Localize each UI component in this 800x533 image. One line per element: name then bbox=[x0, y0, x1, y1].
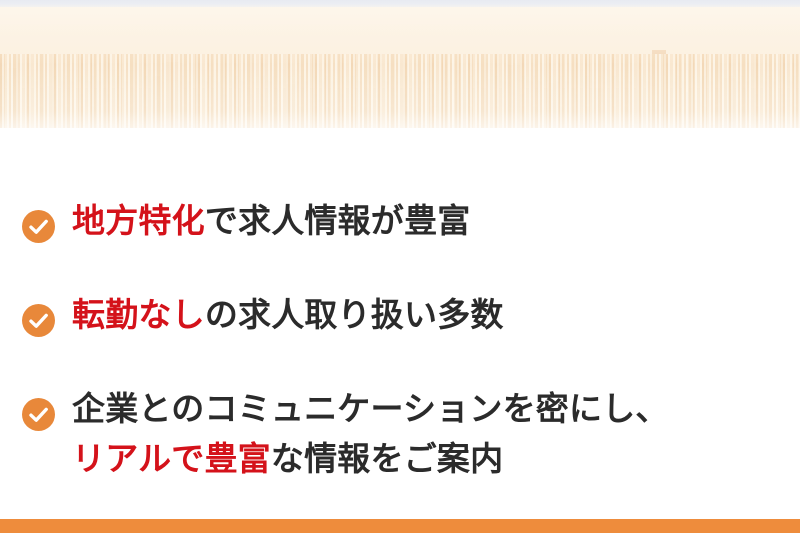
benefit-item: 転勤なしの求人取り扱い多数 bbox=[22, 290, 800, 340]
check-circle-icon bbox=[22, 304, 55, 337]
benefit-text: 転勤なしの求人取り扱い多数 bbox=[72, 290, 504, 340]
top-strip bbox=[0, 0, 800, 7]
benefit-text: 地方特化で求人情報が豊富 bbox=[72, 196, 470, 246]
check-circle-icon bbox=[22, 210, 55, 243]
benefit-plain-text: 企業とのコミュニケーションを密にし、 bbox=[72, 390, 669, 427]
benefit-text-line: 企業とのコミュニケーションを密にし、 bbox=[72, 384, 669, 434]
benefit-item: 企業とのコミュニケーションを密にし、リアルで豊富な情報をご案内 bbox=[22, 384, 800, 484]
benefit-text-line: 地方特化で求人情報が豊富 bbox=[72, 196, 470, 246]
benefit-plain-text: の求人取り扱い多数 bbox=[205, 296, 504, 333]
benefit-highlight-text: リアルで豊富 bbox=[72, 440, 271, 477]
benefit-highlight-text: 地方特化 bbox=[72, 202, 205, 239]
benefit-text-line: 転勤なしの求人取り扱い多数 bbox=[72, 290, 504, 340]
check-circle-icon bbox=[22, 398, 55, 431]
benefit-text: 企業とのコミュニケーションを密にし、リアルで豊富な情報をご案内 bbox=[72, 384, 669, 484]
banner-haze-overlay bbox=[0, 7, 800, 128]
benefit-plain-text: で求人情報が豊富 bbox=[205, 202, 471, 239]
benefit-plain-text: な情報をご案内 bbox=[271, 440, 503, 477]
benefit-highlight-text: 転勤なし bbox=[72, 296, 205, 333]
benefit-text-line: リアルで豊富な情報をご案内 bbox=[72, 434, 669, 484]
benefits-list: 地方特化で求人情報が豊富転勤なしの求人取り扱い多数企業とのコミュニケーションを密… bbox=[22, 196, 800, 485]
benefit-item: 地方特化で求人情報が豊富 bbox=[22, 196, 800, 246]
orange-divider-rule bbox=[0, 519, 800, 533]
cityscape-banner bbox=[0, 7, 800, 128]
